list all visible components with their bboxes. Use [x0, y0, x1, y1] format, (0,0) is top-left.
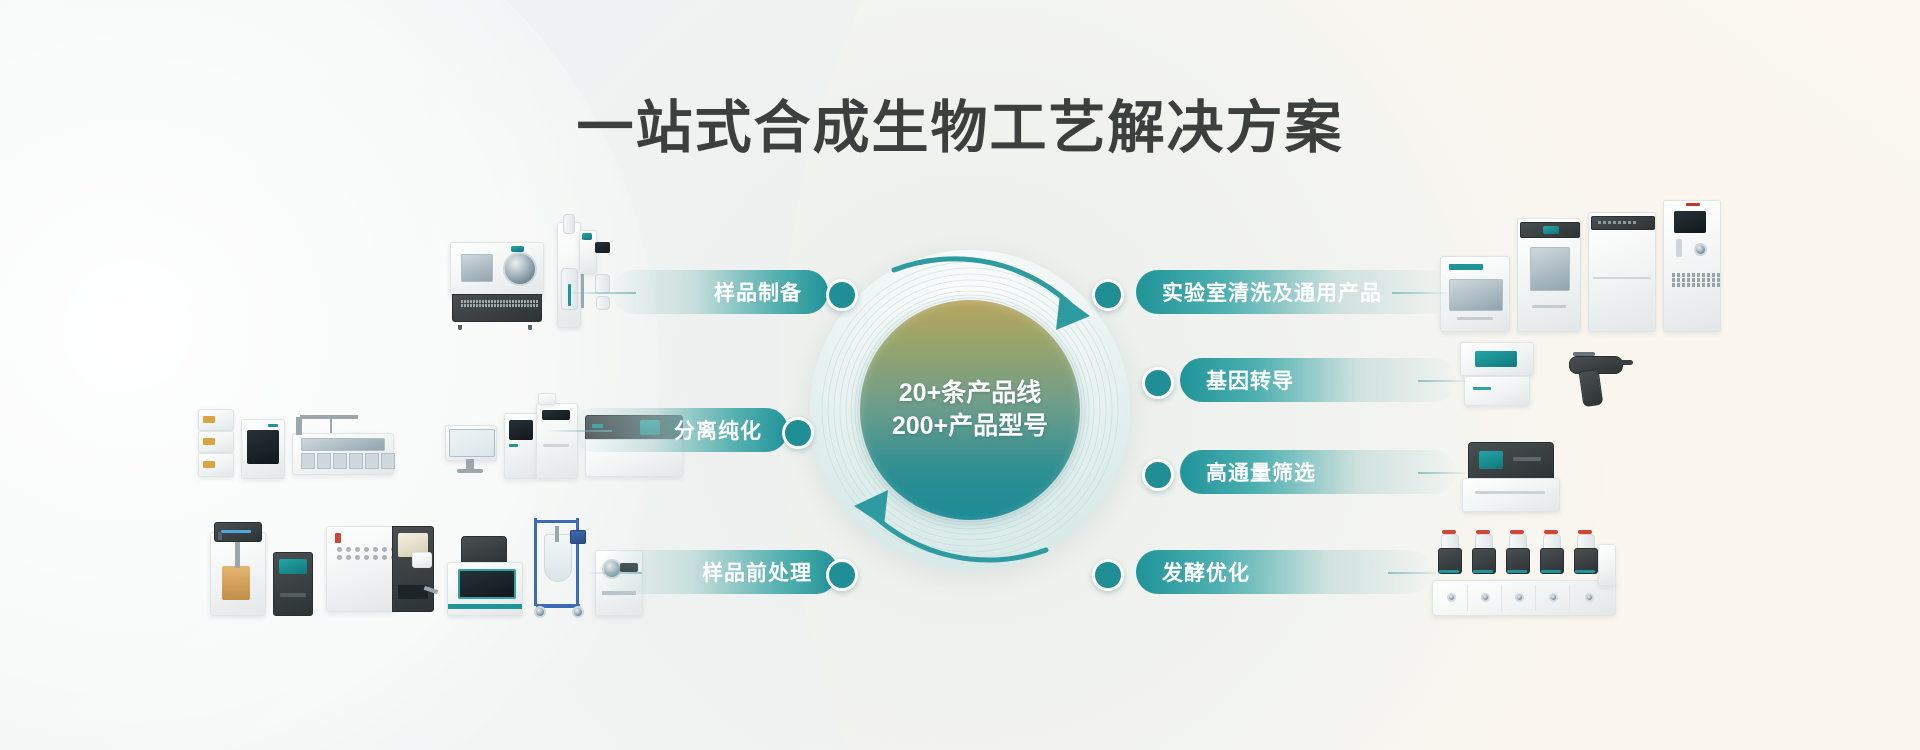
label-high-throughput-screening[interactable]: 高通量筛选 [1180, 450, 1456, 494]
node-sample-pretreatment[interactable] [826, 559, 858, 591]
equipment-tall-cabinet-washer [1663, 200, 1719, 330]
equipment-glass-reactor [530, 518, 586, 614]
equipment-microplate-reader [1462, 442, 1558, 512]
equipment-cluster-sample-pretreatment [210, 518, 641, 614]
equipment-cluster-sample-preparation [450, 212, 613, 326]
equipment-bead-mill [273, 552, 311, 614]
equipment-lab-washer [1588, 212, 1654, 330]
equipment-glassware-washer [1517, 218, 1579, 330]
equipment-tissue-grinder [447, 536, 521, 614]
label-text-sample-pretreatment: 样品前处理 [702, 557, 812, 587]
label-text-high-throughput-screening: 高通量筛选 [1206, 457, 1316, 487]
equipment-cluster-fermentation-optimization [1432, 530, 1614, 616]
label-fermentation-optimization[interactable]: 发酵优化 [1136, 550, 1432, 594]
hub-inner-disc: 20+条产品线 200+产品型号 [860, 300, 1080, 520]
node-sample-preparation[interactable] [826, 279, 858, 311]
label-gene-transduction[interactable]: 基因转导 [1180, 358, 1456, 402]
equipment-ultrasonic-homogenizer [210, 522, 264, 614]
equipment-hplc-stack [198, 409, 232, 477]
equipment-cluster-gene-transduction [1460, 340, 1633, 408]
label-lab-washing-general[interactable]: 实验室清洗及通用产品 [1136, 270, 1452, 314]
equipment-freeze-dryer [450, 242, 542, 326]
equipment-high-pressure-homogenizer [326, 526, 432, 614]
node-gene-transduction[interactable] [1142, 367, 1174, 399]
label-text-lab-washing-general: 实验室清洗及通用产品 [1162, 277, 1382, 307]
equipment-prep-chromatograph [504, 399, 576, 477]
equipment-cluster-high-throughput-screening [1462, 440, 1558, 512]
label-text-gene-transduction: 基因转导 [1206, 365, 1294, 395]
node-high-throughput-screening[interactable] [1142, 459, 1174, 491]
page-title: 一站式合成生物工艺解决方案 [0, 82, 1920, 164]
infographic-canvas: 一站式合成生物工艺解决方案 [0, 0, 1920, 750]
label-text-fermentation-optimization: 发酵优化 [1162, 557, 1250, 587]
node-fermentation-optimization[interactable] [1092, 559, 1124, 591]
label-text-sample-preparation: 样品制备 [714, 277, 802, 307]
equipment-spray-dryer [551, 222, 613, 326]
equipment-transfection-gun [1557, 350, 1633, 408]
label-sample-preparation[interactable]: 样品制备 [612, 270, 828, 314]
equipment-column-oven [241, 419, 283, 477]
hub-stat-product-lines: 20+条产品线 [899, 377, 1041, 411]
equipment-caption-fraction-collector [292, 484, 392, 490]
central-hub: 20+条产品线 200+产品型号 [810, 250, 1130, 570]
label-separation-purification[interactable]: 分离纯化 [572, 408, 788, 452]
label-text-separation-purification: 分离纯化 [674, 415, 762, 445]
node-lab-washing-general[interactable] [1092, 279, 1124, 311]
label-sample-pretreatment[interactable]: 样品前处理 [602, 550, 838, 594]
equipment-workstation-monitor [445, 425, 495, 477]
hub-stat-product-models: 200+产品型号 [892, 410, 1048, 444]
equipment-electroporator [1460, 342, 1532, 408]
equipment-parallel-bioreactor-system [1432, 530, 1614, 616]
node-separation-purification[interactable] [782, 417, 814, 449]
equipment-fraction-collector [292, 413, 392, 477]
equipment-cluster-lab-washing-general [1440, 195, 1719, 330]
